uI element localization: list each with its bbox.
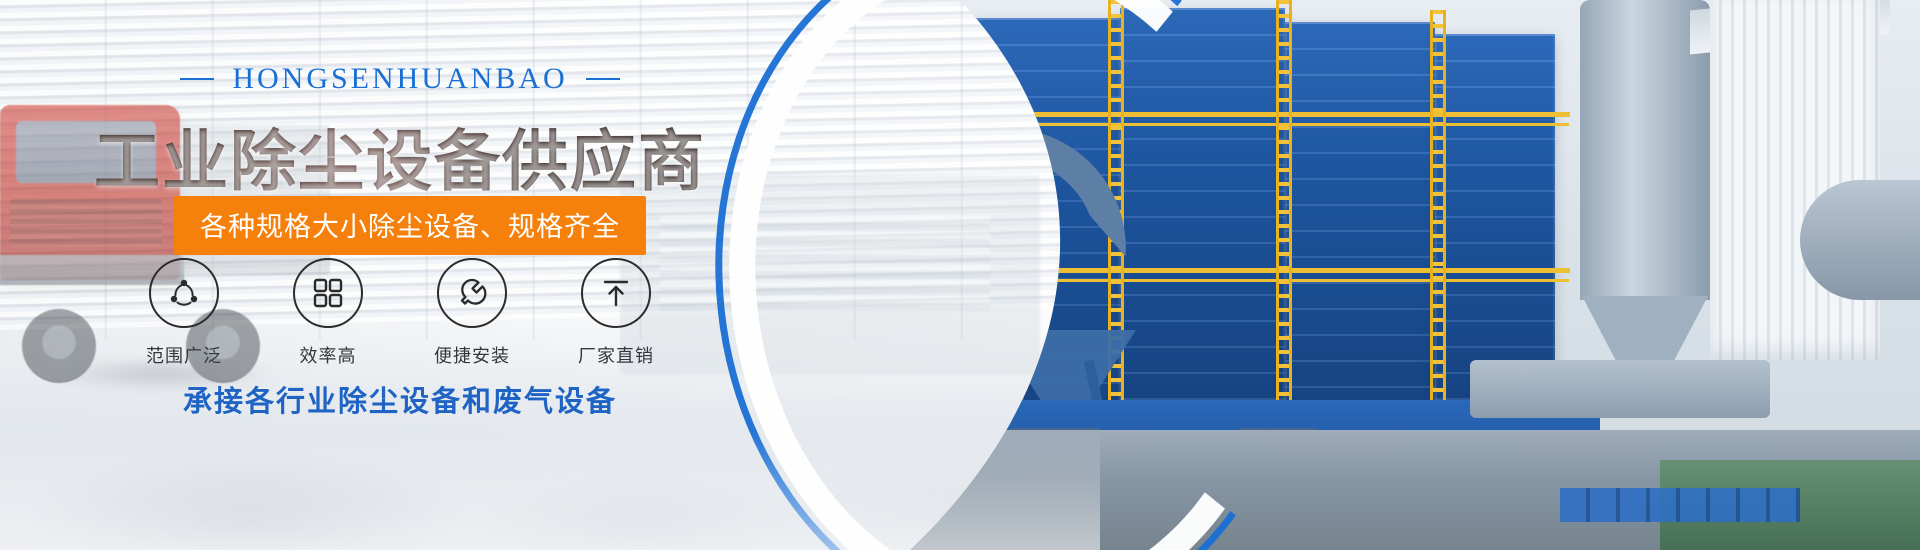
blue-fence bbox=[1560, 488, 1800, 522]
yellow-ladder bbox=[1276, 0, 1292, 415]
feature-icon-circle bbox=[437, 258, 507, 328]
dash-right-icon bbox=[586, 78, 620, 80]
yellow-handrail bbox=[970, 268, 1570, 273]
feature-icon-circle bbox=[293, 258, 363, 328]
page-title: 工业除尘设备供应商 bbox=[0, 108, 800, 204]
yellow-handrail bbox=[970, 112, 1570, 117]
feature-icon-circle bbox=[581, 258, 651, 328]
feature-item-factory-direct[interactable]: 厂家直销 bbox=[579, 258, 653, 368]
right-large-pipe bbox=[1800, 180, 1920, 300]
feature-item-efficiency[interactable]: 效率高 bbox=[291, 258, 365, 368]
grid-squares-icon bbox=[311, 276, 345, 310]
banner-tagline: 承接各行业除尘设备和废气设备 bbox=[0, 378, 800, 420]
wrench-tool-icon bbox=[454, 275, 490, 311]
feature-label: 厂家直销 bbox=[578, 342, 654, 368]
orange-subtitle-bar: 各种规格大小除尘设备、规格齐全 bbox=[174, 196, 646, 255]
feature-label: 便捷安装 bbox=[434, 342, 510, 368]
english-title: HONGSENHUANBAO bbox=[232, 62, 567, 96]
feature-label: 范围广泛 bbox=[146, 342, 222, 368]
feature-icon-circle bbox=[149, 258, 219, 328]
upload-arrow-icon bbox=[599, 276, 633, 310]
baghouse-module bbox=[1120, 8, 1285, 403]
banner-text-block: HONGSENHUANBAO 工业除尘设备供应商 各种规格大小除尘设备、规格齐全 bbox=[0, 0, 860, 550]
dash-left-icon bbox=[180, 78, 214, 80]
feature-item-install[interactable]: 便捷安装 bbox=[435, 258, 509, 368]
hero-banner: HONGSENHUANBAO 工业除尘设备供应商 各种规格大小除尘设备、规格齐全 bbox=[0, 0, 1920, 550]
right-horizontal-duct bbox=[1470, 360, 1770, 418]
english-title-row: HONGSENHUANBAO bbox=[0, 62, 800, 96]
feature-list: 范围广泛 效率高 bbox=[0, 258, 800, 368]
feature-label: 效率高 bbox=[300, 342, 357, 368]
yellow-ladder bbox=[1430, 10, 1446, 410]
baghouse-module bbox=[1285, 22, 1435, 407]
share-network-icon bbox=[166, 275, 202, 311]
baghouse-module bbox=[1435, 34, 1555, 404]
subtitle-text: 各种规格大小除尘设备、规格齐全 bbox=[200, 212, 620, 243]
feature-item-range[interactable]: 范围广泛 bbox=[147, 258, 221, 368]
